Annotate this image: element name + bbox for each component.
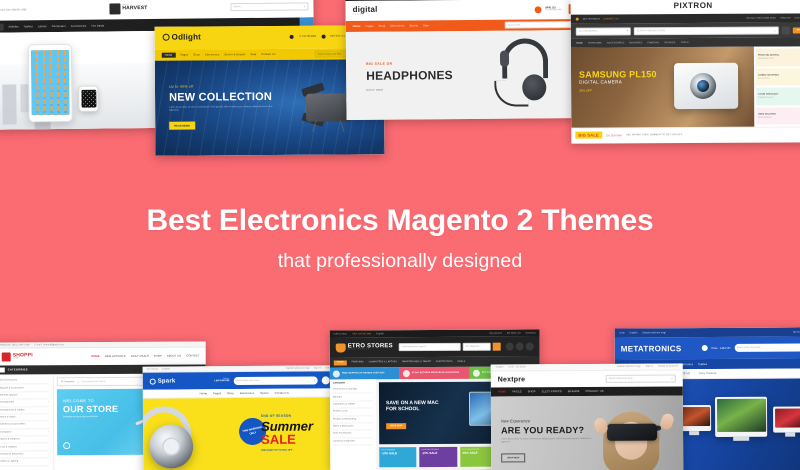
nextpre-search[interactable]: Search entire store here... ⌕ [606, 375, 676, 383]
nextpre-hero-text: New Experience ARE YOU READY? Lorem ipsu… [501, 418, 597, 463]
bulb-icon [163, 34, 170, 41]
meta-welcome: Default welcome msg! [642, 332, 666, 334]
odlight-phone: +1 234 456 9890 [299, 36, 316, 38]
shoppi-banner-sub: Shopping any great deals everywhere [63, 416, 118, 418]
pixtron-body: SAMSUNG PL150 DIGITAL CAMERA 25% OFF PRI… [571, 46, 800, 127]
pixtron-searchbar[interactable]: ALL CATEGORIES ▾ SEARCH PRODUCTS HERE ⌕ … [571, 22, 800, 38]
pixtron-contact[interactable]: CONTACT US [603, 18, 618, 20]
pixtron-promo-text: USE PROMO CODE SUMMER TO GET 20% OFF [626, 134, 682, 136]
pixtron-hero: SAMSUNG PL150 DIGITAL CAMERA 25% OFF [571, 47, 754, 128]
shoppi-nav-3[interactable]: SHOP [154, 355, 162, 358]
nextpre-nav-4[interactable]: BRANDS [568, 390, 580, 393]
support-icon [473, 369, 480, 376]
spark-welcome: Default welcome msg! [286, 367, 310, 369]
shoppi-logo-sub: STORE [13, 358, 33, 360]
digital-hero-text: BIG SALE ON HEADPHONES SHOP NOW [366, 61, 453, 92]
spark-nav-0[interactable]: Home [200, 392, 208, 395]
search-icon[interactable]: ⌕ [774, 28, 776, 32]
harvest-nav-2[interactable]: Laptop [38, 25, 47, 28]
theme-screenshot-spark[interactable]: Our Stores English Default welcome msg! … [143, 365, 347, 470]
pixtron-category-value: ALL CATEGORIES [579, 30, 598, 32]
breadcrumb-sep: | [694, 372, 695, 375]
odlight-nav-3[interactable]: Electronics [205, 53, 219, 56]
etro-nav-2[interactable]: COMPUTERS & LAPTOPS [369, 361, 397, 363]
spark-header: Spark Call Us 1 800 345 6780 Search enti… [143, 371, 346, 389]
pixtron-currency[interactable]: USD [794, 17, 799, 19]
spark-hero-title2: SALE [261, 433, 313, 446]
feature-card[interactable]: COMBO SHOPPING Choose control [756, 68, 800, 86]
etro-hero-text: SAVE ON A NEW MAC FOR SCHOOL SHOP NOW [386, 400, 439, 431]
digital-header: digital STORE (800) 123 +11 234 5678 788… [346, 0, 586, 21]
odlight-search-placeholder: Search entire store here... [318, 53, 343, 55]
shoppi-categories-label: CATEGORIES [8, 368, 28, 371]
shoppi-category-sidebar[interactable]: Car Accessories Apparel & Accessories In… [0, 374, 54, 470]
odlight-cta-button[interactable]: READ MORE [169, 122, 195, 130]
carousel-prev-button[interactable]: ‹ [63, 442, 70, 449]
theme-screenshot-pixtron[interactable]: PIXTRON GET IN TOUCH CONTACT US DEFAULT … [571, 0, 800, 144]
ribbon-text: FREE SHIPPING ON ORDERS OVER $200 [342, 372, 385, 375]
sidebar-item[interactable]: Cameras & Watches [333, 438, 373, 446]
spark-nav-1[interactable]: Pages [213, 392, 221, 395]
nextpre-nav-2[interactable]: SHOP [528, 390, 536, 393]
spark-nav-4[interactable]: Sports [260, 391, 268, 394]
bag-icon [2, 352, 11, 361]
tile-value: -30% SALE [462, 451, 495, 455]
pixtron-hero-text: SAMSUNG PL150 DIGITAL CAMERA 25% OFF [579, 69, 657, 92]
spark-logo[interactable]: Spark [150, 378, 176, 384]
nextpre-create-account[interactable]: Create an Account [658, 366, 678, 368]
phone-icon [534, 6, 541, 13]
digital-logo[interactable]: digital STORE [353, 6, 378, 16]
pixtron-cart-button[interactable]: MY CART [793, 27, 800, 33]
odlight-nav-2[interactable]: Shop [193, 53, 200, 56]
feature-sub: Mobile application [758, 116, 799, 118]
spark-language[interactable]: English [162, 368, 170, 370]
shoppi-nav-5[interactable]: CONTACT [186, 354, 199, 357]
nextpre-nav-0[interactable]: HOME [498, 390, 506, 393]
menu-grid-icon[interactable] [0, 23, 4, 30]
pixtron-hero-title: SAMSUNG PL150 [579, 69, 657, 79]
spark-nav-3[interactable]: Electronics [240, 391, 254, 394]
search-icon[interactable]: ⌕ [304, 4, 306, 8]
nextpre-logo-text[interactable]: Nextpre [498, 376, 526, 383]
harvest-nav-3[interactable]: Computers [52, 24, 66, 27]
nextpre-currency[interactable]: USD - US Dollar [509, 366, 526, 368]
tile-label: SALE SMARTWATCH [462, 449, 495, 451]
nextpre-welcome: Default welcome msg! [617, 366, 641, 368]
headline-block: Best Electronics Magento 2 Themes that p… [0, 204, 800, 273]
pixtron-logo-text[interactable]: PIXTRON [674, 0, 713, 9]
etro-account[interactable]: My Account [490, 332, 502, 334]
feature-sub: Engagement source [758, 97, 799, 99]
digital-search-placeholder: Search store... [508, 24, 522, 26]
feature-sub: Capitalization choose [758, 58, 799, 60]
meta-logo-text[interactable]: METATRONICS [621, 344, 682, 353]
pixtron-language[interactable]: ENGLISH [780, 17, 790, 19]
pixtron-nav-2[interactable]: ACCESSORIES [607, 42, 624, 44]
cat-logo-icon [336, 343, 346, 352]
meta-call: CALL : 1234 567 [711, 346, 730, 349]
theme-screenshot-digital[interactable]: My Account English USD Checkout digital … [345, 0, 586, 120]
etro-wishlist[interactable]: My Wish List [507, 332, 521, 334]
feature-sub: Choose control [758, 77, 799, 79]
shoppi-banner-text: WELCOME TO OUR STORE Shopping any great … [63, 398, 118, 418]
compare-icon[interactable] [506, 343, 514, 351]
digital-nav-1[interactable]: Pages [366, 25, 374, 28]
harvest-nav-5[interactable]: Hot Deals [91, 24, 104, 27]
nextpre-hero-kicker: New Experience [501, 418, 597, 424]
digital-logo-text: digital [353, 6, 378, 14]
etro-cta-button[interactable]: SHOP NOW [386, 423, 406, 429]
etro-checkout[interactable]: Checkout [526, 332, 536, 334]
odlight-hero-kicker: Up to 45% off [169, 84, 279, 89]
etro-nav-4[interactable]: ELECTRONICS [436, 361, 452, 363]
pixtron-promo-bar[interactable]: BIG SALE On Summer USE PROMO CODE SUMMER… [571, 126, 800, 141]
tile-label: SALE MACBOOK [381, 449, 414, 451]
iphone-image [28, 44, 73, 122]
odlight-nav-1[interactable]: Pages [180, 54, 188, 57]
sale-tile[interactable]: SALE MACBOOK -10% SALE [379, 447, 416, 467]
shoppi-phone: Telephone: (801) 2345 6789 [0, 344, 30, 346]
pixtron-nav-0[interactable]: HOME [576, 42, 583, 44]
nextpre-language[interactable]: English [496, 366, 504, 368]
search-icon[interactable]: ⌕ [314, 378, 316, 382]
returns-icon [403, 370, 410, 377]
pixtron-promo-tag: BIG SALE [575, 131, 602, 138]
pixtron-category-select[interactable]: ALL CATEGORIES ▾ [576, 27, 631, 35]
phone-icon [290, 35, 294, 39]
feature-card[interactable]: FREE DELIVERY Mobile application [756, 107, 800, 125]
pixtron-promo-script: On Summer [606, 133, 622, 137]
etro-search-placeholder: Enter keyword to search... [402, 346, 427, 348]
nextpre-header: Nextpre Search entire store here... ⌕ [491, 370, 683, 387]
feature-card[interactable]: LOGIN CHECKOUT Engagement source [756, 87, 800, 105]
search-icon[interactable]: ⌕ [671, 377, 673, 381]
cart-icon[interactable] [526, 342, 534, 350]
apple-watch-image [78, 86, 98, 112]
pixtron-nav-5[interactable]: SPEAKER [664, 42, 675, 44]
spark-hero-kicker: END OF SEASON [261, 414, 313, 418]
nextpre-search-placeholder: Search entire store here... [609, 378, 634, 380]
ribbon-item: 30 DAY RETURNS MONEYBACK GUARANTEE [400, 367, 470, 379]
harvest-logo-text: HARVEST [122, 7, 147, 12]
bag-icon [109, 3, 120, 14]
odlight-nav-6[interactable]: Contact Us [261, 53, 275, 56]
headphone-product-image [143, 404, 218, 470]
pixtron-search[interactable]: SEARCH PRODUCTS HERE ⌕ [634, 26, 779, 35]
shoppi-banner-kicker: WELCOME TO [63, 398, 118, 403]
phone-icon [576, 18, 579, 21]
etro-nav-1[interactable]: FEATURES [352, 361, 364, 363]
harvest-search[interactable]: Search ... ⌕ [230, 2, 308, 11]
odlight-nav-4[interactable]: Sports & Brands [224, 53, 245, 56]
meta-search-placeholder: Search entire store here... [737, 347, 762, 349]
etro-language[interactable]: English [376, 333, 384, 335]
spark-mark-icon [150, 378, 156, 384]
pixtron-nav-3[interactable]: MACHINES [629, 42, 642, 44]
shoppi-nav-1[interactable]: NEW ARRIVALS [105, 355, 126, 358]
headset-icon [701, 345, 707, 351]
shoppi-nav-4[interactable]: ABOUT US [167, 355, 181, 358]
category-item[interactable]: Lights & Lighting [0, 458, 49, 466]
tile-value: -10% SALE [381, 451, 414, 455]
shipping-icon [333, 370, 340, 377]
digital-logo-sub: STORE [353, 14, 378, 16]
ribbon-text: 30 DAY RETURNS MONEYBACK GUARANTEE [412, 372, 459, 375]
odlight-hero-text: Up to 45% off NEW COLLECTION Lorem ipsum… [169, 84, 279, 131]
pixtron-nav-6[interactable]: TOOLS [680, 42, 688, 44]
camera-product-image [674, 63, 738, 109]
digital-nav-2[interactable]: Shop [379, 25, 386, 28]
digital-cta-link[interactable]: SHOP NOW [366, 88, 453, 92]
digital-nav-3[interactable]: Electronics [390, 25, 404, 28]
pixtron-search-placeholder: SEARCH PRODUCTS HERE [637, 30, 666, 32]
etro-sidebar-label: CATEGORY [333, 382, 373, 384]
search-icon[interactable] [493, 343, 501, 351]
tile-label: SALE SMARTPHONE [422, 449, 455, 451]
spark-stores[interactable]: Our Stores [147, 368, 159, 370]
etro-call-label: Call Us Now [334, 333, 347, 335]
page-subtitle: that professionally designed [0, 250, 800, 273]
etro-category-select[interactable]: All Categories [463, 343, 491, 351]
shoppi-nav-0[interactable]: HOME [91, 355, 99, 358]
poster-canvas: Currency : USD Language : English Defaul… [0, 0, 800, 470]
odlight-nav-5[interactable]: Sale [251, 53, 257, 56]
harvest-phone: Call Our Line: 098 001 7893 [0, 8, 26, 11]
spark-nav-5[interactable]: Contact Us [275, 391, 289, 394]
meta-currency[interactable]: USD [620, 332, 625, 334]
etro-logo[interactable]: ETRO STORES ELECTRONICS [336, 343, 393, 352]
odlight-logo[interactable]: Odlight [163, 32, 201, 41]
spark-nav-2[interactable]: Shop [227, 392, 234, 395]
nextpre-hero: New Experience ARE YOU READY? Lorem ipsu… [491, 395, 683, 470]
pixtron-welcome: DEFAULT WELCOME MSG! [746, 17, 776, 19]
nextpre-signin[interactable]: Sign in [646, 366, 653, 368]
shoppi-email: E-mail: contact@gmail.com [35, 344, 64, 346]
meta-header: METATRONICS CALL : 1234 567 Search entir… [615, 336, 800, 359]
headphone-product-image [488, 36, 563, 117]
pin-icon [321, 35, 325, 39]
shoppi-nav-2[interactable]: DAILY DEALS [131, 355, 149, 358]
pixtron-logobar: PIXTRON [571, 0, 800, 15]
nextpre-nav-5[interactable]: CONTACT US [586, 390, 604, 393]
odlight-hero-title: NEW COLLECTION [169, 91, 279, 104]
harvest-nav-0[interactable]: Mobiles [9, 25, 19, 28]
meta-nav-3[interactable]: Cables [698, 363, 707, 366]
shoppi-logo[interactable]: SHOPPI STORE [2, 352, 33, 361]
digital-phone-sub: +11 234 5678 7880 [545, 9, 561, 12]
page-title: Best Electronics Magento 2 Themes [0, 204, 800, 238]
harvest-logo[interactable]: Nuclear HARVEST [109, 3, 147, 14]
spark-phone: 1 800 345 6780 [214, 380, 229, 383]
harvest-nav-4[interactable]: Accessories [71, 24, 87, 27]
nextpre-hero-title: ARE YOU READY? [501, 425, 597, 436]
cart-icon[interactable] [321, 376, 329, 384]
nextpre-nav-1[interactable]: PAGES [512, 390, 522, 393]
etro-sidebar[interactable]: CATEGORY Hard Drives & Storage Monitors … [330, 379, 376, 470]
etro-logo-sub: ELECTRONICS [348, 349, 393, 351]
digital-nav-0[interactable]: Home [353, 25, 361, 28]
meta-language[interactable]: English [630, 332, 638, 334]
etro-category-value: All Categories [466, 346, 480, 348]
feature-card[interactable]: PRICE DELIGHTFUL Capitalization choose [756, 48, 800, 66]
odlight-location: New York, U.S. [330, 35, 345, 37]
shoppi-category-select[interactable]: All Categories [61, 381, 79, 383]
pixtron-nav-4[interactable]: CAMERAS [647, 42, 659, 44]
sale-tile[interactable]: SALE SMARTPHONE -15% SALE [419, 447, 456, 467]
shoppi-banner-title: OUR STORE [63, 404, 118, 414]
monitor-image [773, 407, 800, 433]
digital-hero-title: HEADPHONES [366, 68, 453, 83]
harvest-search-placeholder: Search ... [233, 6, 242, 8]
shoppi-header: SHOPPI STORE HOME NEW ARRIVALS DAILY DEA… [0, 347, 206, 365]
spark-search[interactable]: Search entire store here... ⌕ [233, 376, 317, 385]
theme-screenshot-nextpre[interactable]: English USD - US Dollar Default welcome … [491, 363, 684, 470]
digital-nav-5[interactable]: Sale [423, 24, 429, 27]
spark-search-placeholder: Search entire store here... [235, 379, 260, 381]
digital-search[interactable]: Search store... ⌕ [505, 21, 579, 29]
nextpre-cta-button[interactable]: SHOP NOW [501, 453, 525, 462]
spark-hero-note: DISCOUNT UP TO 50% OFF [261, 449, 313, 452]
spark-hero-text: END OF SEASON Summer SALE DISCOUNT UP TO… [261, 414, 313, 452]
pixtron-nav-1[interactable]: FURNITURE [588, 42, 602, 44]
odlight-hero-sub: Lorem ipsum dolor sit amet, consectetuer… [169, 106, 279, 113]
etro-nav-0[interactable]: HOME [334, 360, 347, 365]
nextpre-nav-3[interactable]: ELECTRONICS [542, 390, 562, 393]
chevron-down-icon[interactable]: ▾ [627, 29, 628, 32]
etro-nav-5[interactable]: DEALS [458, 361, 466, 363]
digital-hero: BIG SALE ON HEADPHONES SHOP NOW [346, 30, 587, 120]
meta-account[interactable]: My Account [793, 331, 800, 333]
meta-search[interactable]: Search entire store here... [735, 344, 800, 352]
pixtron-hero-sub: DIGITAL CAMERA [579, 79, 657, 84]
etro-header: ETRO STORES ELECTRONICS Enter keyword to… [330, 336, 540, 357]
wishlist-icon[interactable] [782, 26, 790, 34]
breadcrumb-item[interactable]: Sony Camera [699, 372, 717, 375]
monitor-image [715, 397, 767, 437]
menu-icon[interactable] [0, 368, 5, 373]
spark-signin[interactable]: Sign In [314, 367, 322, 369]
etro-phone: +001 234 567 890 [352, 333, 371, 335]
etro-search[interactable]: Enter keyword to search... [399, 343, 461, 351]
spark-logo-text: Spark [158, 378, 176, 384]
spark-hero: THIS WEEKEND ONLY END OF SEASON Summer S… [143, 397, 347, 470]
digital-hero-kicker: BIG SALE ON [366, 61, 453, 66]
wishlist-icon[interactable] [516, 343, 524, 351]
shoppi-nav[interactable]: HOME NEW ARRIVALS DAILY DEALS SHOP ABOUT… [91, 354, 199, 358]
vr-woman-image [593, 400, 677, 470]
odlight-nav-0[interactable]: Home [162, 53, 176, 58]
pixtron-feature-list: PRICE DELIGHTFUL Capitalization choose C… [754, 46, 800, 126]
harvest-nav-1[interactable]: Tablets [24, 25, 33, 28]
pixtron-get-in-touch: GET IN TOUCH [583, 18, 600, 20]
tile-value: -15% SALE [422, 451, 455, 455]
ribbon-item: FREE SHIPPING ON ORDERS OVER $200 [330, 367, 400, 379]
pixtron-hero-off: 25% OFF [579, 88, 657, 92]
etro-nav-3[interactable]: SMARTPHONES & TABLET [402, 361, 431, 363]
digital-nav-4[interactable]: Sports [410, 24, 418, 27]
etro-hero-title-2: FOR SCHOOL [386, 406, 439, 413]
odlight-logo-text: Odlight [172, 32, 201, 41]
nextpre-hero-sub: Lorem ipsum dolor sit amet, consectetuer… [501, 438, 597, 445]
